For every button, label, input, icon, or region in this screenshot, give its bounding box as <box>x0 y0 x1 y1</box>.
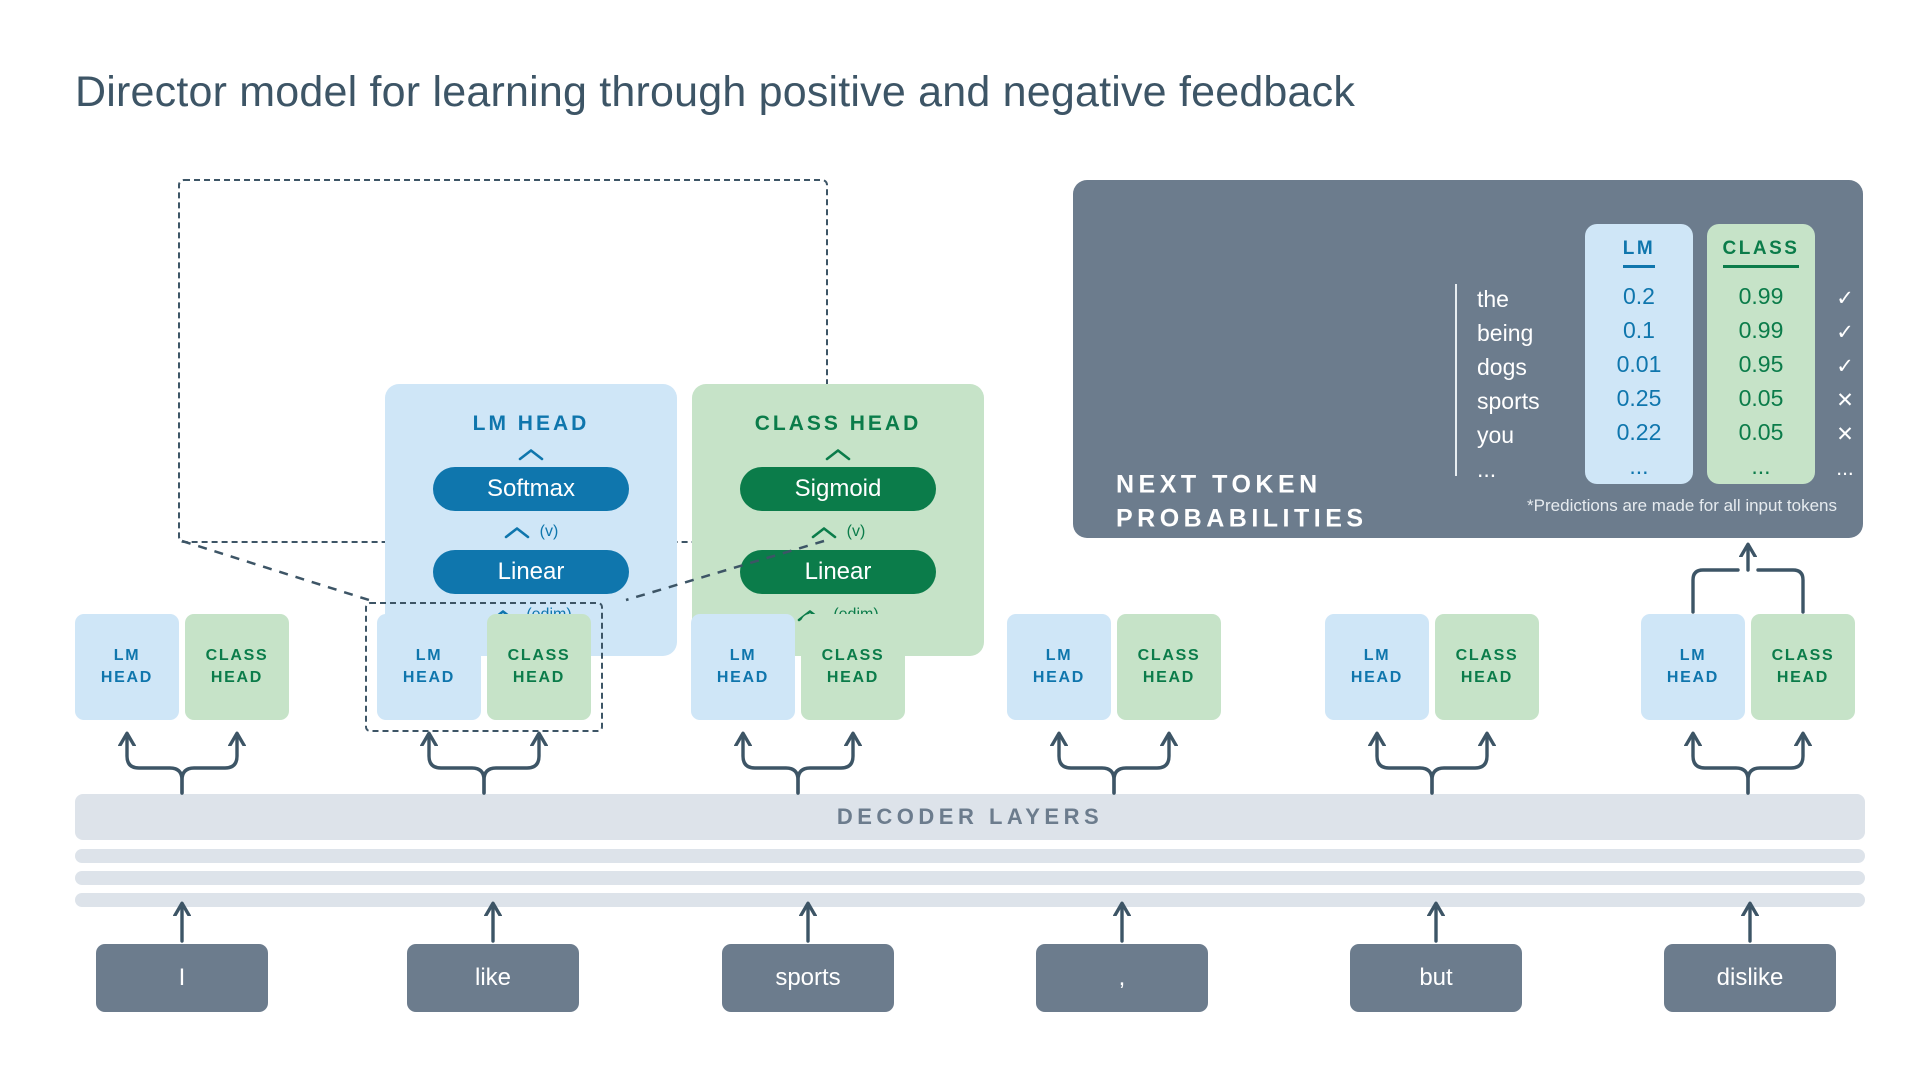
head-pair-2: LM HEAD CLASS HEAD <box>377 614 591 720</box>
next-token-probabilities-panel: NEXT TOKEN PROBABILITIES the being dogs … <box>1073 180 1863 538</box>
class-mid-dim-label: (v) <box>847 523 866 541</box>
decoder-layer-stack-3 <box>75 871 1865 885</box>
lm-head-box[interactable]: LM HEAD <box>1641 614 1745 720</box>
input-token-3[interactable]: sports <box>722 944 894 1012</box>
class-head-box[interactable]: CLASS HEAD <box>1751 614 1855 720</box>
class-probability-column: CLASS 0.99 0.99 0.95 0.05 0.05 ... <box>1707 224 1815 484</box>
table-left-rule <box>1455 284 1457 476</box>
panel-title: NEXT TOKEN PROBABILITIES <box>1116 468 1368 536</box>
head-feed-arrows <box>127 735 1803 793</box>
class-head-box[interactable]: CLASS HEAD <box>801 614 905 720</box>
decoder-layers-bar: DECODER LAYERS <box>75 794 1865 840</box>
lm-head-box[interactable]: LM HEAD <box>691 614 795 720</box>
class-head-box[interactable]: CLASS HEAD <box>185 614 289 720</box>
lm-linear-block: Linear <box>433 550 629 594</box>
token-column: the being dogs sports you ... <box>1477 282 1577 486</box>
lm-head-box[interactable]: LM HEAD <box>1325 614 1429 720</box>
chevron-up-icon <box>825 448 851 461</box>
lm-head-box[interactable]: LM HEAD <box>75 614 179 720</box>
input-token-6[interactable]: dislike <box>1664 944 1836 1012</box>
heads-row: LM HEAD CLASS HEAD LM HEAD CLASS HEAD LM… <box>0 614 1920 720</box>
head-pair-4: LM HEAD CLASS HEAD <box>1007 614 1221 720</box>
class-head-box[interactable]: CLASS HEAD <box>1435 614 1539 720</box>
diagram-canvas: Director model for learning through posi… <box>0 0 1920 1080</box>
lm-column-values: 0.2 0.1 0.01 0.25 0.22 ... <box>1585 279 1693 483</box>
decoder-layer-stack-2 <box>75 849 1865 863</box>
input-token-1[interactable]: I <box>96 944 268 1012</box>
lm-column-header: LM <box>1623 238 1655 268</box>
lm-mid-connector: (v) <box>504 522 559 542</box>
class-column-header: CLASS <box>1723 238 1800 268</box>
lm-mid-dim-label: (v) <box>540 523 559 541</box>
lm-head-box[interactable]: LM HEAD <box>1007 614 1111 720</box>
chevron-up-icon <box>504 526 530 539</box>
decision-marks-column: ✓ ✓ ✓ ✕ ✕ ... <box>1825 282 1865 486</box>
head-detail-callout: LM HEAD Softmax (v) Linear (edim) CLASS … <box>178 179 828 543</box>
lm-probability-column: LM 0.2 0.1 0.01 0.25 0.22 ... <box>1585 224 1693 484</box>
lm-softmax-block: Softmax <box>433 467 629 511</box>
class-head-box[interactable]: CLASS HEAD <box>1117 614 1221 720</box>
head-pair-5: LM HEAD CLASS HEAD <box>1325 614 1539 720</box>
input-token-2[interactable]: like <box>407 944 579 1012</box>
head-pair-1: LM HEAD CLASS HEAD <box>75 614 289 720</box>
class-column-values: 0.99 0.99 0.95 0.05 0.05 ... <box>1707 279 1815 483</box>
class-head-box[interactable]: CLASS HEAD <box>487 614 591 720</box>
lm-head-detail-title: LM HEAD <box>473 412 590 436</box>
probabilities-table: the being dogs sports you ... LM 0.2 0.1… <box>1455 224 1845 484</box>
chevron-up-icon <box>811 526 837 539</box>
class-mid-connector: (v) <box>811 522 866 542</box>
class-head-detail-title: CLASS HEAD <box>755 412 922 436</box>
chevron-up-icon <box>518 448 544 461</box>
class-linear-block: Linear <box>740 550 936 594</box>
head-pair-6: LM HEAD CLASS HEAD <box>1641 614 1855 720</box>
page-title: Director model for learning through posi… <box>75 68 1355 117</box>
lm-head-box[interactable]: LM HEAD <box>377 614 481 720</box>
panel-feed-arrow <box>1693 546 1803 612</box>
token-feed-arrows <box>182 905 1750 941</box>
head-pair-3: LM HEAD CLASS HEAD <box>691 614 905 720</box>
decoder-layer-stack-4 <box>75 893 1865 907</box>
input-token-4[interactable]: , <box>1036 944 1208 1012</box>
panel-footnote: *Predictions are made for all input toke… <box>1527 496 1837 516</box>
input-token-5[interactable]: but <box>1350 944 1522 1012</box>
class-sigmoid-block: Sigmoid <box>740 467 936 511</box>
